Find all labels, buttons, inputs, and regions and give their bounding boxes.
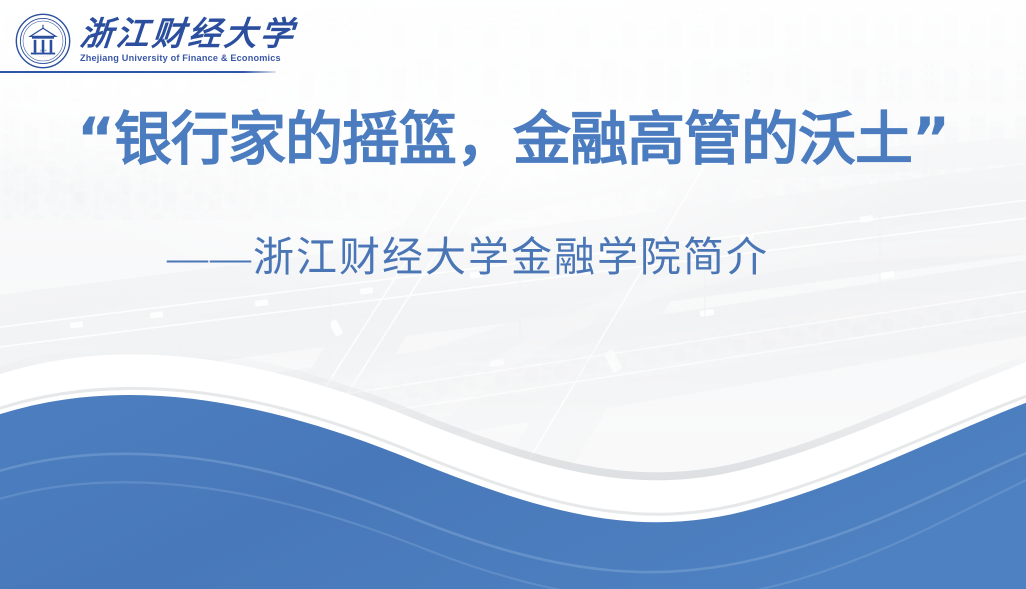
logo-wordmark: 浙江财经大学 Zhejiang University of Finance & … bbox=[80, 19, 296, 63]
logo-chinese-name: 浙江财经大学 bbox=[79, 19, 298, 52]
slide-subtitle: ——浙江财经大学金融学院简介 bbox=[0, 234, 936, 281]
university-logo: 1974 · · · · · · · · · · 浙江财经大学 Zhejiang… bbox=[14, 10, 296, 72]
title-slide: 1974 · · · · · · · · · · 浙江财经大学 Zhejiang… bbox=[0, 0, 1026, 589]
title-block: “银行家的摇篮，金融高管的沃土” bbox=[0, 108, 1026, 171]
slide-main-title: “银行家的摇篮，金融高管的沃土” bbox=[0, 108, 1026, 171]
logo-underline-rule bbox=[0, 71, 276, 73]
bottom-wave-decoration bbox=[0, 329, 1026, 589]
logo-english-name: Zhejiang University of Finance & Economi… bbox=[80, 54, 293, 63]
subtitle-block: ——浙江财经大学金融学院简介 bbox=[0, 234, 1026, 281]
svg-text:1974: 1974 bbox=[40, 48, 47, 52]
university-seal-icon: 1974 · · · · · · · · · · bbox=[14, 12, 72, 70]
